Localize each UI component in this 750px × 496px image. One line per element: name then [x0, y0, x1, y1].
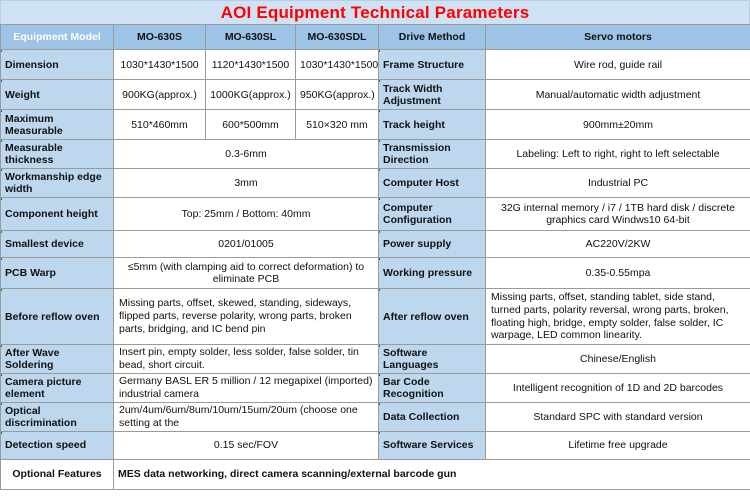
- row-value: 0.3-6mm: [114, 140, 379, 169]
- row-value: 510*460mm: [114, 110, 206, 140]
- row-value: Standard SPC with standard version: [486, 402, 750, 431]
- row-label: Camera picture element: [1, 374, 114, 403]
- row-label: PCB Warp: [1, 258, 114, 289]
- row-label: Computer Host: [379, 169, 486, 198]
- table-row: Component height Top: 25mm / Bottom: 40m…: [1, 198, 750, 231]
- row-label: Before reflow oven: [1, 289, 114, 345]
- row-value: Intelligent recognition of 1D and 2D bar…: [486, 374, 750, 403]
- row-label: Smallest device: [1, 231, 114, 258]
- row-value: Labeling: Left to right, right to left s…: [486, 140, 750, 169]
- table-row: Dimension 1030*1430*1500 1120*1430*1500 …: [1, 50, 750, 80]
- table-row: Weight 900KG(approx.) 1000KG(approx.) 95…: [1, 80, 750, 110]
- row-value: 2um/4um/6um/8um/10um/15um/20um (choose o…: [114, 402, 379, 431]
- row-value: 0.35-0.55mpa: [486, 258, 750, 289]
- row-value: 3mm: [114, 169, 379, 198]
- header-model-3: MO-630SDL: [296, 25, 379, 50]
- row-value: 32G internal memory / i7 / 1TB hard disk…: [486, 198, 750, 231]
- row-value: ≤5mm (with clamping aid to correct defor…: [114, 258, 379, 289]
- row-value: Insert pin, empty solder, less solder, f…: [114, 345, 379, 374]
- row-label: Frame Structure: [379, 50, 486, 80]
- table-row: Optical discrimination 2um/4um/6um/8um/1…: [1, 402, 750, 431]
- row-value: Top: 25mm / Bottom: 40mm: [114, 198, 379, 231]
- row-label: Measurable thickness: [1, 140, 114, 169]
- row-value: 510×320 mm: [296, 110, 379, 140]
- table-row: Detection speed 0.15 sec/FOV Software Se…: [1, 431, 750, 459]
- row-label: Transmission Direction: [379, 140, 486, 169]
- row-value: Germany BASL ER 5 million / 12 megapixel…: [114, 374, 379, 403]
- row-label: Working pressure: [379, 258, 486, 289]
- row-label: Computer Configuration: [379, 198, 486, 231]
- optional-features-row: Optional Features MES data networking, d…: [1, 459, 750, 489]
- table-row: Smallest device 0201/01005 Power supply …: [1, 231, 750, 258]
- spec-sheet: AOI Equipment Technical Parameters Equip…: [0, 0, 750, 496]
- row-value: 900KG(approx.): [114, 80, 206, 110]
- table-row: Before reflow oven Missing parts, offset…: [1, 289, 750, 345]
- header-model-1: MO-630S: [114, 25, 206, 50]
- row-value: 900mm±20mm: [486, 110, 750, 140]
- table-row: Maximum Measurable 510*460mm 600*500mm 5…: [1, 110, 750, 140]
- row-label: Software Languages: [379, 345, 486, 374]
- row-label: Software Services: [379, 431, 486, 459]
- row-value: 1000KG(approx.): [206, 80, 296, 110]
- row-value: Missing parts, offset, standing tablet, …: [486, 289, 750, 345]
- row-label: Data Collection: [379, 402, 486, 431]
- row-value: 1030*1430*1500: [114, 50, 206, 80]
- page-title: AOI Equipment Technical Parameters: [221, 4, 530, 21]
- row-value: 600*500mm: [206, 110, 296, 140]
- row-label: After reflow oven: [379, 289, 486, 345]
- row-value: Wire rod, guide rail: [486, 50, 750, 80]
- table-header-row: Equipment Model MO-630S MO-630SL MO-630S…: [1, 25, 750, 50]
- header-servo-motors: Servo motors: [486, 25, 750, 50]
- row-label: Maximum Measurable: [1, 110, 114, 140]
- row-label: Component height: [1, 198, 114, 231]
- row-value: Chinese/English: [486, 345, 750, 374]
- row-label: Track Width Adjustment: [379, 80, 486, 110]
- row-label: Weight: [1, 80, 114, 110]
- row-value: 0201/01005: [114, 231, 379, 258]
- header-model-2: MO-630SL: [206, 25, 296, 50]
- row-value: 0.15 sec/FOV: [114, 431, 379, 459]
- row-value: 1120*1430*1500: [206, 50, 296, 80]
- row-label: Bar Code Recognition: [379, 374, 486, 403]
- row-value: 950KG(approx.): [296, 80, 379, 110]
- table-row: After Wave Soldering Insert pin, empty s…: [1, 345, 750, 374]
- row-label: Detection speed: [1, 431, 114, 459]
- row-value: Industrial PC: [486, 169, 750, 198]
- table-row: Workmanship edge width 3mm Computer Host…: [1, 169, 750, 198]
- row-label: Optical discrimination: [1, 402, 114, 431]
- table-row: PCB Warp ≤5mm (with clamping aid to corr…: [1, 258, 750, 289]
- table-body: Equipment Model MO-630S MO-630SL MO-630S…: [1, 25, 750, 490]
- optional-features-label: Optional Features: [1, 459, 114, 489]
- row-value: 1030*1430*1500: [296, 50, 379, 80]
- row-label: Dimension: [1, 50, 114, 80]
- title-bar: AOI Equipment Technical Parameters: [0, 0, 750, 24]
- table-row: Measurable thickness 0.3-6mm Transmissio…: [1, 140, 750, 169]
- row-value: Missing parts, offset, skewed, standing,…: [114, 289, 379, 345]
- row-value: AC220V/2KW: [486, 231, 750, 258]
- row-value: Manual/automatic width adjustment: [486, 80, 750, 110]
- header-drive-method: Drive Method: [379, 25, 486, 50]
- row-label: Track height: [379, 110, 486, 140]
- header-equipment-model: Equipment Model: [1, 25, 114, 50]
- row-label: Power supply: [379, 231, 486, 258]
- row-value: Lifetime free upgrade: [486, 431, 750, 459]
- row-label: After Wave Soldering: [1, 345, 114, 374]
- optional-features-value: MES data networking, direct camera scann…: [114, 459, 750, 489]
- specification-table: Equipment Model MO-630S MO-630SL MO-630S…: [0, 24, 750, 490]
- row-label: Workmanship edge width: [1, 169, 114, 198]
- table-row: Camera picture element Germany BASL ER 5…: [1, 374, 750, 403]
